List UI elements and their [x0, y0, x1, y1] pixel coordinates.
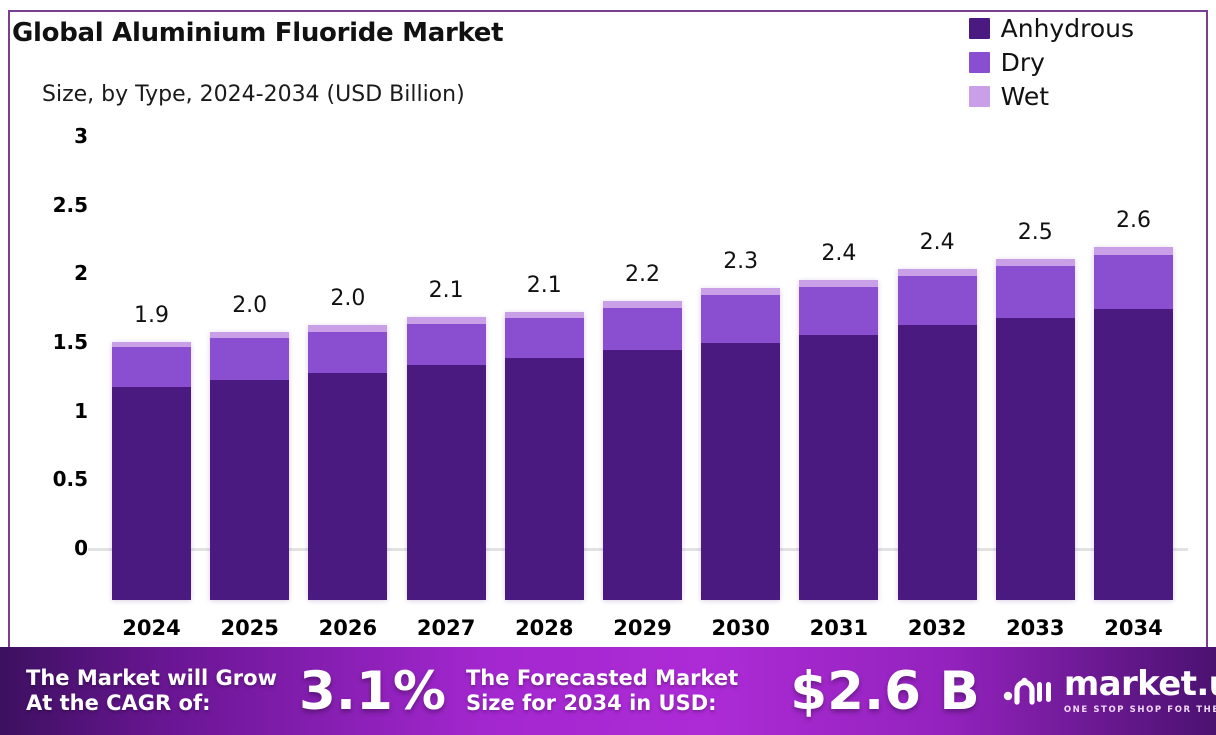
- bar-stack[interactable]: [210, 332, 289, 600]
- bar-value-label: 1.9: [134, 303, 169, 328]
- x-axis-category-label: 2030: [711, 616, 769, 640]
- bar-value-label: 2.2: [625, 262, 660, 287]
- bar-segment-anhydrous[interactable]: [701, 343, 780, 600]
- bar-group[interactable]: 1.92024: [112, 52, 191, 600]
- bar-value-label: 2.0: [232, 293, 267, 318]
- bar-stack[interactable]: [603, 301, 682, 600]
- bar-segment-wet[interactable]: [505, 312, 584, 319]
- bar-segment-dry[interactable]: [505, 318, 584, 358]
- bar-group[interactable]: 2.02025: [210, 52, 289, 600]
- bar-value-label: 2.0: [330, 286, 365, 311]
- x-axis-category-label: 2031: [810, 616, 868, 640]
- market-us-logo-icon: [1002, 672, 1054, 710]
- x-axis-category-label: 2029: [613, 616, 671, 640]
- bar-segment-anhydrous[interactable]: [112, 387, 191, 600]
- bar-value-label: 2.1: [527, 273, 562, 298]
- forecast-label-line2: Size for 2034 in USD:: [466, 691, 738, 716]
- x-axis-category-label: 2026: [319, 616, 377, 640]
- cagr-label-line2: At the CAGR of:: [26, 691, 277, 716]
- forecast-value: $2.6 B: [790, 665, 980, 718]
- x-axis-category-label: 2033: [1006, 616, 1064, 640]
- bar-segment-wet[interactable]: [701, 288, 780, 295]
- forecast-label-line1: The Forecasted Market: [466, 666, 738, 691]
- bar-segment-wet[interactable]: [603, 301, 682, 308]
- bar-segment-anhydrous[interactable]: [505, 358, 584, 600]
- bar-segment-dry[interactable]: [308, 332, 387, 373]
- cagr-label-line1: The Market will Grow: [26, 666, 277, 691]
- bar-group[interactable]: 2.62034: [1094, 52, 1173, 600]
- x-axis-category-label: 2025: [220, 616, 278, 640]
- bar-segment-dry[interactable]: [996, 266, 1075, 318]
- cagr-label: The Market will Grow At the CAGR of:: [26, 666, 277, 716]
- bottom-banner: The Market will Grow At the CAGR of: 3.1…: [0, 647, 1216, 735]
- x-axis-category-label: 2034: [1104, 616, 1162, 640]
- bar-stack[interactable]: [112, 342, 191, 600]
- x-axis-category-label: 2027: [417, 616, 475, 640]
- bar-segment-wet[interactable]: [407, 317, 486, 324]
- bar-value-label: 2.6: [1116, 208, 1151, 233]
- logo-tagline: ONE STOP SHOP FOR THE REPORTS: [1064, 705, 1216, 715]
- logo-name: market.us: [1064, 667, 1216, 701]
- bar-segment-wet[interactable]: [1094, 247, 1173, 255]
- logo-wordmark: market.us ONE STOP SHOP FOR THE REPORTS: [1064, 667, 1216, 715]
- bar-value-label: 2.4: [821, 241, 856, 266]
- bar-segment-dry[interactable]: [799, 287, 878, 335]
- bar-segment-anhydrous[interactable]: [1094, 309, 1173, 600]
- bar-segment-anhydrous[interactable]: [407, 365, 486, 600]
- bar-segment-dry[interactable]: [1094, 255, 1173, 309]
- bar-segment-anhydrous[interactable]: [996, 318, 1075, 600]
- bar-segment-anhydrous[interactable]: [210, 380, 289, 600]
- bar-group[interactable]: 2.12028: [505, 52, 584, 600]
- bar-segment-anhydrous[interactable]: [603, 350, 682, 600]
- bar-stack[interactable]: [407, 317, 486, 600]
- forecast-label: The Forecasted Market Size for 2034 in U…: [466, 666, 738, 716]
- bar-value-label: 2.5: [1018, 220, 1053, 245]
- bar-stack[interactable]: [1094, 247, 1173, 600]
- bar-segment-anhydrous[interactable]: [898, 325, 977, 600]
- bar-stack[interactable]: [701, 288, 780, 600]
- bar-stack[interactable]: [996, 259, 1075, 600]
- bar-group[interactable]: 2.42031: [799, 52, 878, 600]
- bar-stack[interactable]: [799, 280, 878, 600]
- y-axis-tick: 1.5: [53, 330, 88, 354]
- bar-segment-wet[interactable]: [308, 325, 387, 332]
- plot-area: 00.511.522.531.920242.020252.020262.1202…: [0, 0, 1200, 600]
- bar-stack[interactable]: [308, 325, 387, 600]
- bar-group[interactable]: 2.02026: [308, 52, 387, 600]
- y-axis-tick: 0: [74, 536, 88, 560]
- bar-segment-anhydrous[interactable]: [308, 373, 387, 600]
- x-axis-category-label: 2028: [515, 616, 573, 640]
- bar-group[interactable]: 2.22029: [603, 52, 682, 600]
- bar-group[interactable]: 2.32030: [701, 52, 780, 600]
- bar-segment-wet[interactable]: [996, 259, 1075, 266]
- y-axis-tick: 1: [74, 399, 88, 423]
- bar-segment-dry[interactable]: [898, 276, 977, 325]
- cagr-value: 3.1%: [299, 665, 446, 718]
- y-axis-tick: 2.5: [53, 193, 88, 217]
- bar-segment-dry[interactable]: [210, 338, 289, 381]
- bar-stack[interactable]: [505, 312, 584, 600]
- y-axis-tick: 2: [74, 261, 88, 285]
- bar-stack[interactable]: [898, 269, 977, 600]
- bar-group[interactable]: 2.12027: [407, 52, 486, 600]
- bar-segment-anhydrous[interactable]: [799, 335, 878, 600]
- bar-segment-wet[interactable]: [799, 280, 878, 287]
- market-us-logo[interactable]: market.us ONE STOP SHOP FOR THE REPORTS: [1002, 667, 1216, 715]
- bar-segment-wet[interactable]: [898, 269, 977, 276]
- bar-segment-dry[interactable]: [407, 324, 486, 365]
- bar-segment-dry[interactable]: [112, 347, 191, 387]
- y-axis-tick: 3: [74, 124, 88, 148]
- bar-value-label: 2.4: [920, 230, 955, 255]
- bar-segment-dry[interactable]: [701, 295, 780, 343]
- x-axis-category-label: 2024: [122, 616, 180, 640]
- bar-value-label: 2.1: [429, 278, 464, 303]
- y-axis-tick: 0.5: [53, 467, 88, 491]
- bar-value-label: 2.3: [723, 249, 758, 274]
- bar-group[interactable]: 2.42032: [898, 52, 977, 600]
- x-axis-category-label: 2032: [908, 616, 966, 640]
- bar-segment-dry[interactable]: [603, 308, 682, 351]
- bar-group[interactable]: 2.52033: [996, 52, 1075, 600]
